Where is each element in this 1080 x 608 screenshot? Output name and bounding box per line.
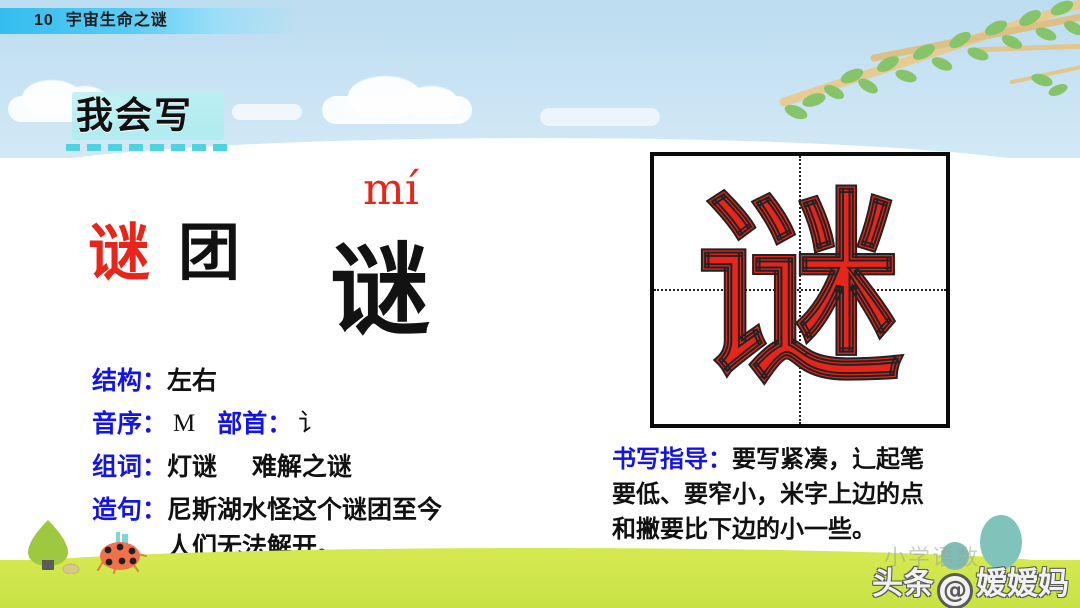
slide-canvas: 10宇宙生命之谜 我会写 谜 团 mí 谜 结构： 左右 音序： M 部首： 讠… — [0, 0, 1080, 608]
word-char-target: 谜 — [88, 222, 150, 284]
ladybug-icon — [92, 530, 148, 574]
character-info-list: 结构： 左右 音序： M 部首： 讠 组词： 灯谜 难解之谜 造句： 尼斯湖水怪… — [92, 362, 592, 570]
info-row-words: 组词： 灯谜 难解之谜 — [92, 448, 592, 486]
sentence-label: 造句： — [92, 491, 167, 529]
badge-label: 我会写 — [62, 88, 207, 144]
cloud-icon — [540, 108, 660, 126]
guidance-line: 书写指导：要写紧凑，辶起笔 — [612, 442, 1068, 477]
big-character: 谜 — [330, 240, 430, 340]
at-icon: @ — [937, 573, 973, 608]
ladybug-icon — [62, 562, 80, 574]
info-row-pinyin-radical: 音序： M 部首： 讠 — [92, 405, 592, 443]
character-grid-box: 谜 — [650, 152, 950, 428]
tree-branch-icon — [756, 0, 1080, 129]
sentence-line: 尼斯湖水怪这个谜团至今 — [167, 491, 442, 528]
lesson-title: 宇宙生命之谜 — [66, 12, 168, 29]
lesson-number: 10 — [34, 12, 54, 29]
badge-underline-dashes — [66, 144, 234, 151]
phonetic-order-label: 音序： — [92, 405, 167, 443]
structure-label: 结构： — [92, 362, 167, 400]
watermark-platform: 头条 — [872, 566, 934, 602]
info-row-structure: 结构： 左右 — [92, 362, 592, 400]
words-value: 灯谜 难解之谜 — [167, 448, 352, 486]
grid-character: 谜 — [654, 186, 946, 394]
words-label: 组词： — [92, 448, 167, 486]
user-watermark: 头条@嫒嫒妈 — [872, 558, 1069, 608]
radical-label: 部首： — [217, 405, 292, 443]
pinyin-label: mí — [363, 168, 419, 212]
watermark-user: 嫒嫒妈 — [976, 566, 1069, 602]
page-title: 10宇宙生命之谜 — [34, 9, 168, 33]
structure-value: 左右 — [167, 362, 217, 400]
guidance-text: 要写紧凑，辶起笔 — [732, 445, 924, 473]
cloud-icon — [232, 104, 302, 120]
word-char-second: 团 — [178, 222, 240, 284]
section-badge: 我会写 — [62, 88, 207, 144]
cloud-icon — [404, 86, 458, 118]
phonetic-order-value: M — [167, 405, 217, 443]
guidance-line: 要低、要窄小，米字上边的点 — [612, 477, 1068, 512]
guidance-label: 书写指导： — [612, 445, 732, 473]
radical-value: 讠 — [292, 405, 323, 443]
